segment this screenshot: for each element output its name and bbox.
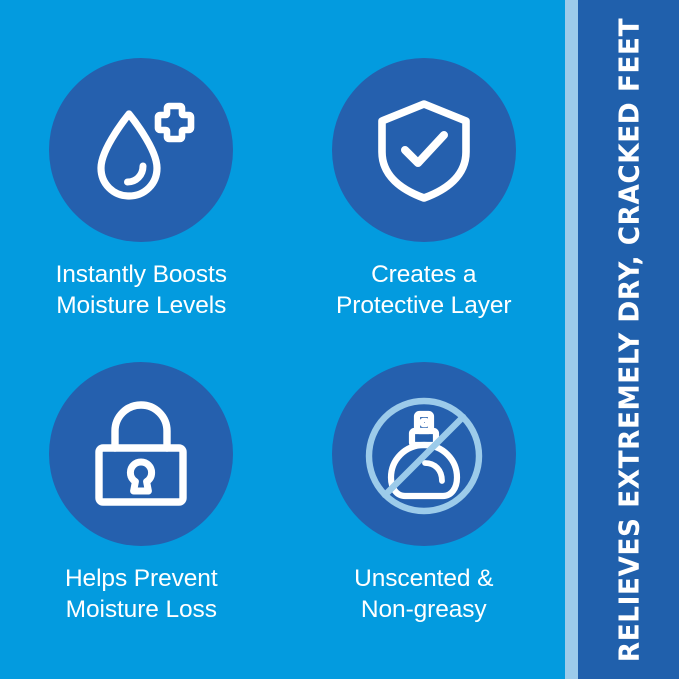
padlock-icon	[87, 398, 195, 510]
feature-icon-circle	[49, 58, 233, 242]
feature-caption: Unscented & Non-greasy	[354, 563, 493, 625]
feature-grid: Instantly Boosts Moisture Levels Creates…	[0, 0, 565, 679]
no-fragrance-bottle-icon	[360, 390, 488, 518]
water-drop-plus-icon	[81, 90, 201, 210]
feature-caption: Helps Prevent Moisture Loss	[65, 563, 218, 625]
feature-caption: Creates a Protective Layer	[336, 259, 511, 321]
feature-item-unscented-non-greasy: Unscented & Non-greasy	[283, 340, 566, 679]
side-banner-text: RELIEVES EXTREMELY DRY, CRACKED FEET	[612, 17, 645, 661]
feature-item-helps-prevent-moisture-loss: Helps Prevent Moisture Loss	[0, 340, 283, 679]
feature-icon-circle	[332, 58, 516, 242]
product-benefits-infographic: Instantly Boosts Moisture Levels Creates…	[0, 0, 679, 679]
shield-check-icon	[368, 94, 480, 206]
feature-caption: Instantly Boosts Moisture Levels	[56, 259, 227, 321]
feature-panel: Instantly Boosts Moisture Levels Creates…	[0, 0, 565, 679]
divider-strip	[565, 0, 578, 679]
feature-icon-circle	[49, 362, 233, 546]
feature-item-creates-a-protective-layer: Creates a Protective Layer	[283, 0, 566, 340]
side-banner: RELIEVES EXTREMELY DRY, CRACKED FEET	[578, 0, 679, 679]
feature-item-instantly-boosts-moisture-levels: Instantly Boosts Moisture Levels	[0, 0, 283, 340]
feature-icon-circle	[332, 362, 516, 546]
